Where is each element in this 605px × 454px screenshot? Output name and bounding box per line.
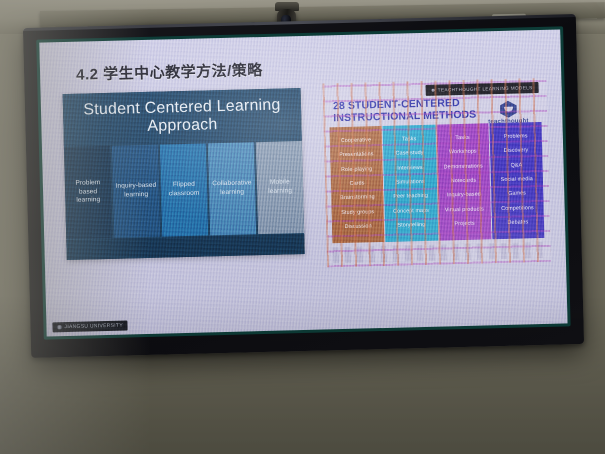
method-item: Cards [350, 181, 365, 187]
approach-box: Problem based learning [64, 146, 112, 239]
method-item: Case study [396, 151, 424, 158]
method-item: Tasks [402, 137, 416, 143]
method-item: Tasks [455, 135, 469, 141]
left-diagram-card: Student Centered Learning Approach Probl… [63, 88, 305, 260]
watermark-text: JIANGSU UNIVERSITY [64, 323, 123, 330]
screen-frame: 4.2 学生中心教学方法/策略 Student Centered Learnin… [36, 26, 570, 339]
method-item: Inquiry-based [447, 193, 481, 200]
method-item: Study groups [341, 210, 374, 217]
approach-box: Inquiry-based learning [112, 145, 160, 238]
slide-watermark: JIANGSU UNIVERSITY [52, 320, 128, 332]
methods-column: Tasks Workshops Demonstrations Notecards… [436, 123, 491, 240]
method-item: Workshops [449, 150, 477, 157]
right-infographic-card: TEACHTHOUGHT LEARNING MODELS 28 STUDENT-… [322, 78, 551, 268]
method-item: Discussion [345, 225, 372, 232]
left-card-heading: Student Centered Learning Approach [63, 88, 302, 146]
methods-column: Cooperative Presentations Role-playing C… [330, 126, 385, 243]
screen-surface[interactable]: 4.2 学生中心教学方法/策略 Student Centered Learnin… [39, 29, 567, 336]
method-item: Debates [507, 221, 528, 227]
method-item: Role-playing [341, 167, 372, 174]
method-item: Problems [504, 134, 528, 141]
shield-icon [499, 101, 516, 118]
method-item: Cooperative [341, 138, 371, 145]
method-item: Storytelling [397, 223, 425, 230]
method-item: Discovery [504, 148, 529, 155]
method-item: Competitions [501, 206, 534, 213]
method-item: Concept maps [393, 209, 429, 216]
classroom-photo-scene: 4.2 学生中心教学方法/策略 Student Centered Learnin… [0, 0, 605, 454]
methods-column: Tasks Case study Interviews Simulations … [383, 125, 438, 242]
methods-column-group: Cooperative Presentations Role-playing C… [330, 122, 545, 243]
methods-column: Problems Discovery Q&A Social media Game… [489, 122, 544, 239]
approach-box-label: Flipped classroom [163, 181, 205, 200]
method-item: Q&A [511, 163, 523, 169]
method-item: Presentations [339, 152, 373, 159]
method-item: Brainstorming [340, 196, 375, 203]
approach-box-label: Collaborative learning [211, 180, 253, 199]
method-item: Interviews [397, 165, 422, 172]
approach-box: Flipped classroom [160, 143, 208, 236]
approach-box-label: Mobile learning [259, 178, 301, 197]
method-item: Virtual products [445, 207, 484, 214]
method-item: Demonstrations [444, 164, 483, 171]
method-item: Projects [454, 222, 474, 228]
infographic-title: 28 STUDENT-CENTERED INSTRUCTIONAL METHOD… [333, 97, 484, 124]
method-item: Peer teaching [393, 194, 428, 201]
left-card-heading-text: Student Centered Learning Approach [63, 96, 302, 138]
tag-dot-icon [432, 89, 435, 92]
method-item: Notecards [451, 179, 477, 186]
method-item: Games [508, 192, 526, 198]
wall-mounted-display[interactable]: 4.2 学生中心教学方法/策略 Student Centered Learnin… [23, 14, 584, 358]
watermark-icon [57, 325, 61, 329]
infographic-footer-strip [333, 242, 545, 263]
approach-box: Mobile learning [256, 141, 304, 234]
infographic-tag: TEACHTHOUGHT LEARNING MODELS [426, 82, 539, 96]
approach-box: Collaborative learning [208, 142, 256, 235]
left-card-box-row: Problem based learning Inquiry-based lea… [64, 141, 304, 239]
approach-box-label: Inquiry-based learning [115, 182, 157, 201]
approach-box-label: Problem based learning [67, 179, 110, 206]
infographic-tag-text: TEACHTHOUGHT LEARNING MODELS [438, 85, 533, 92]
slide-title: 4.2 学生中心教学方法/策略 [76, 59, 263, 85]
method-item: Social media [501, 177, 533, 184]
method-item: Simulations [396, 180, 425, 187]
